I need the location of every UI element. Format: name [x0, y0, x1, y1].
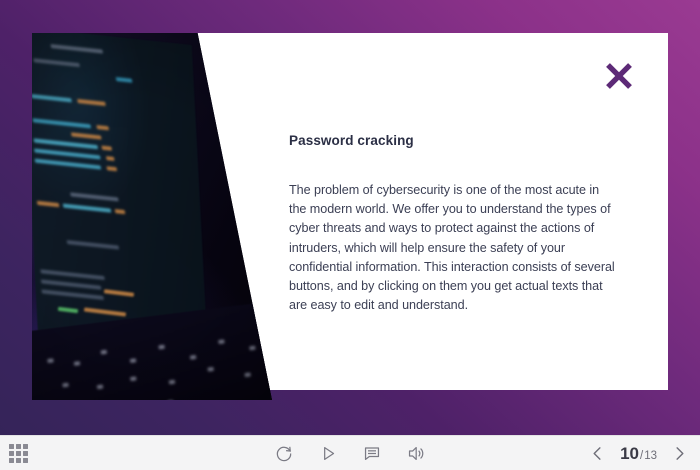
grid-menu-icon[interactable] [9, 444, 28, 463]
page-indicator: 10 / 13 [620, 444, 657, 464]
page-separator: / [640, 450, 643, 462]
toolbar-pagination: 10 / 13 [589, 436, 688, 470]
chevron-left-icon[interactable] [589, 444, 606, 463]
page-total: 13 [644, 450, 657, 462]
toolbar-left-group [9, 436, 28, 470]
grid-menu-glyph [9, 444, 28, 463]
replay-icon[interactable] [275, 444, 294, 463]
card-body-text: The problem of cybersecurity is one of t… [289, 181, 619, 315]
slide-canvas: Password cracking The problem of cyberse… [0, 0, 700, 435]
toolbar-playback-controls [275, 436, 426, 470]
play-icon[interactable] [319, 444, 338, 463]
notes-icon[interactable] [363, 444, 382, 463]
close-icon[interactable] [602, 59, 636, 93]
slide-player: Password cracking The problem of cyberse… [0, 0, 700, 470]
card-title: Password cracking [289, 133, 414, 148]
volume-icon[interactable] [407, 444, 426, 463]
player-toolbar: 10 / 13 [0, 435, 700, 470]
page-current: 10 [620, 444, 639, 464]
chevron-right-icon[interactable] [671, 444, 688, 463]
